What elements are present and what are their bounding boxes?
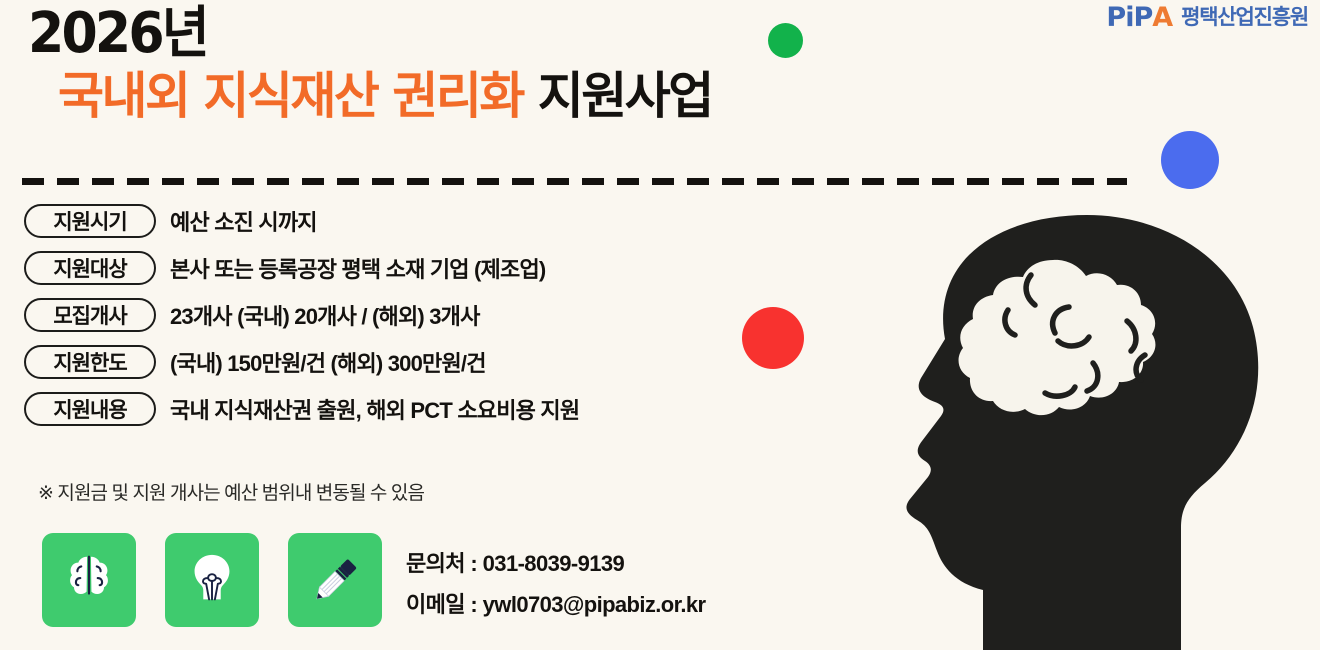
- contact-email: 이메일 : ywl0703@pipabiz.or.kr: [406, 587, 706, 619]
- head-silhouette-illustration: [855, 215, 1320, 650]
- info-row: 지원시기 예산 소진 시까지: [24, 204, 579, 238]
- green-dot-icon: [768, 23, 803, 58]
- info-label-pill: 지원대상: [24, 251, 156, 285]
- headline-block: 2026년 국내외 지식재산 권리화 지원사업: [28, 5, 712, 124]
- red-dot-icon: [742, 307, 804, 369]
- pencil-tile: [288, 533, 382, 627]
- info-value: 본사 또는 등록공장 평택 소재 기업 (제조업): [170, 252, 545, 284]
- info-row: 지원대상 본사 또는 등록공장 평택 소재 기업 (제조업): [24, 251, 579, 285]
- logo-letter-p1: P: [1106, 4, 1125, 31]
- poster-canvas: PiPA 평택산업진흥원 2026년 국내외 지식재산 권리화 지원사업 지원시…: [0, 0, 1320, 650]
- icon-tile-group: [42, 533, 382, 627]
- logo-letter-a: A: [1152, 4, 1172, 31]
- title-year: 2026년: [28, 5, 664, 64]
- info-value: 국내 지식재산권 출원, 해외 PCT 소요비용 지원: [170, 393, 579, 425]
- brain-tile: [42, 533, 136, 627]
- logo-letter-i: i: [1125, 4, 1133, 31]
- brain-icon: [58, 549, 120, 611]
- contact-phone: 문의처 : 031-8039-9139: [406, 546, 706, 578]
- info-row: 지원한도 (국내) 150만원/건 (해외) 300만원/건: [24, 345, 579, 379]
- title-main-highlight: 국내외 지식재산 권리화: [58, 67, 523, 125]
- lightbulb-tile: [165, 533, 259, 627]
- info-row: 지원내용 국내 지식재산권 출원, 해외 PCT 소요비용 지원: [24, 392, 579, 426]
- blue-dot-icon: [1161, 131, 1219, 189]
- pencil-icon: [303, 548, 367, 612]
- info-label-pill: 모집개사: [24, 298, 156, 332]
- info-value: 23개사 (국내) 20개사 / (해외) 3개사: [170, 299, 480, 331]
- info-label-pill: 지원한도: [24, 345, 156, 379]
- info-label-pill: 지원시기: [24, 204, 156, 238]
- info-row: 모집개사 23개사 (국내) 20개사 / (해외) 3개사: [24, 298, 579, 332]
- info-value: (국내) 150만원/건 (해외) 300만원/건: [170, 346, 486, 378]
- logo-organization-name: 평택산업진흥원: [1181, 7, 1308, 28]
- pipa-logo: PiPA 평택산업진흥원: [1106, 4, 1308, 31]
- info-label-pill: 지원내용: [24, 392, 156, 426]
- contact-block: 문의처 : 031-8039-9139 이메일 : ywl0703@pipabi…: [406, 546, 706, 619]
- pipa-logo-mark: PiPA: [1106, 4, 1172, 31]
- info-value: 예산 소진 시까지: [170, 205, 317, 237]
- lightbulb-icon: [182, 549, 242, 611]
- dashed-divider: [22, 178, 1127, 185]
- title-main-rest: 지원사업: [523, 67, 712, 125]
- logo-letter-p2: P: [1133, 4, 1152, 31]
- budget-note: ※ 지원금 및 지원 개사는 예산 범위내 변동될 수 있음: [38, 478, 424, 505]
- info-list: 지원시기 예산 소진 시까지 지원대상 본사 또는 등록공장 평택 소재 기업 …: [24, 204, 579, 426]
- title-main: 국내외 지식재산 권리화 지원사업: [58, 68, 712, 124]
